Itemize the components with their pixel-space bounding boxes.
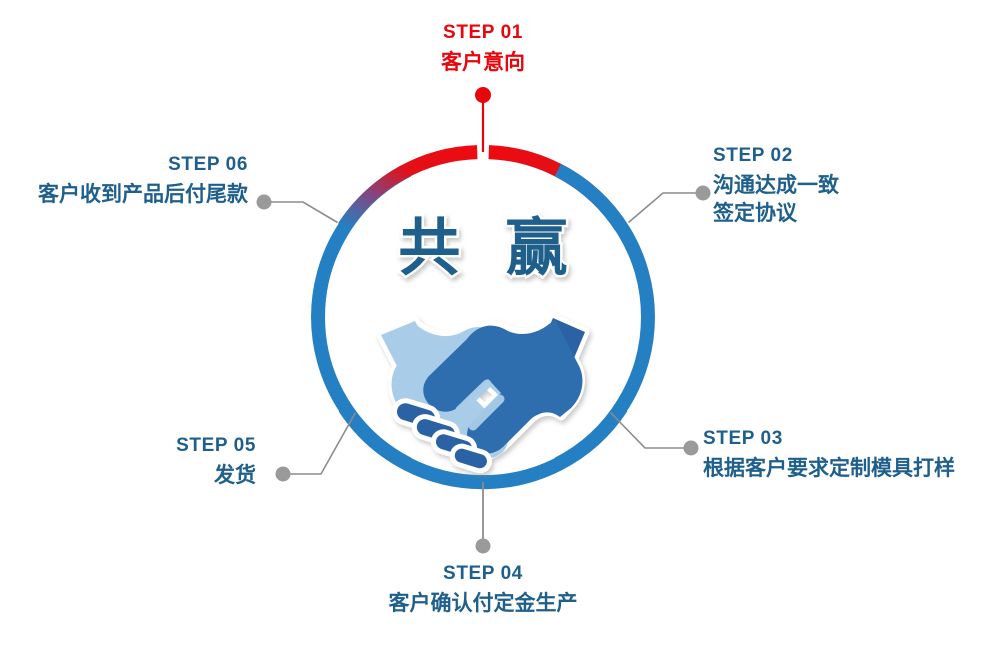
node-dot-step-05 bbox=[276, 467, 291, 482]
handshake-icon bbox=[381, 318, 585, 473]
step-02[interactable]: STEP 02 沟通达成一致 签定协议 bbox=[713, 145, 983, 229]
step-04-label: STEP 04 bbox=[383, 563, 583, 585]
step-03-title: 根据客户要求定制模具打样 bbox=[703, 455, 1000, 483]
node-dot-step-02 bbox=[696, 186, 711, 201]
ring-segment-05 bbox=[318, 170, 408, 464]
step-04-title: 客户确认付定金生产 bbox=[383, 590, 583, 618]
step-01[interactable]: STEP 01 客户意向 bbox=[383, 22, 583, 77]
connector-step-06 bbox=[268, 202, 338, 223]
process-circle-diagram bbox=[0, 0, 1000, 650]
step-02-title-line2: 签定协议 bbox=[713, 200, 983, 228]
node-dot-step-03 bbox=[684, 441, 699, 456]
step-06-label: STEP 06 bbox=[18, 154, 248, 176]
node-dot-step-06 bbox=[257, 195, 272, 210]
step-01-label: STEP 01 bbox=[383, 22, 583, 44]
step-05-title: 发货 bbox=[66, 462, 256, 490]
step-05-label: STEP 05 bbox=[66, 435, 256, 457]
step-02-title: 沟通达成一致 bbox=[713, 172, 983, 200]
node-dot-step-01 bbox=[475, 87, 491, 103]
node-dot-step-04 bbox=[476, 539, 491, 554]
step-03-label: STEP 03 bbox=[703, 428, 1000, 450]
step-04[interactable]: STEP 04 客户确认付定金生产 bbox=[383, 563, 583, 618]
center-wordmark: 共 赢 bbox=[380, 218, 586, 280]
step-05[interactable]: STEP 05 发货 bbox=[66, 435, 256, 490]
step-03[interactable]: STEP 03 根据客户要求定制模具打样 bbox=[703, 428, 1000, 483]
connector-step-02 bbox=[629, 193, 701, 223]
step-06[interactable]: STEP 06 客户收到产品后付尾款 bbox=[18, 154, 248, 209]
step-06-title: 客户收到产品后付尾款 bbox=[18, 181, 248, 209]
step-01-title: 客户意向 bbox=[383, 49, 583, 77]
connector-step-05 bbox=[287, 413, 356, 475]
step-02-label: STEP 02 bbox=[713, 145, 983, 167]
center-wordmark-text: 共 赢 bbox=[398, 214, 581, 283]
infographic-stage: 共 赢 STEP 01 客户意向 STEP 02 沟通达成一致 签定协议 STE… bbox=[0, 0, 1000, 650]
